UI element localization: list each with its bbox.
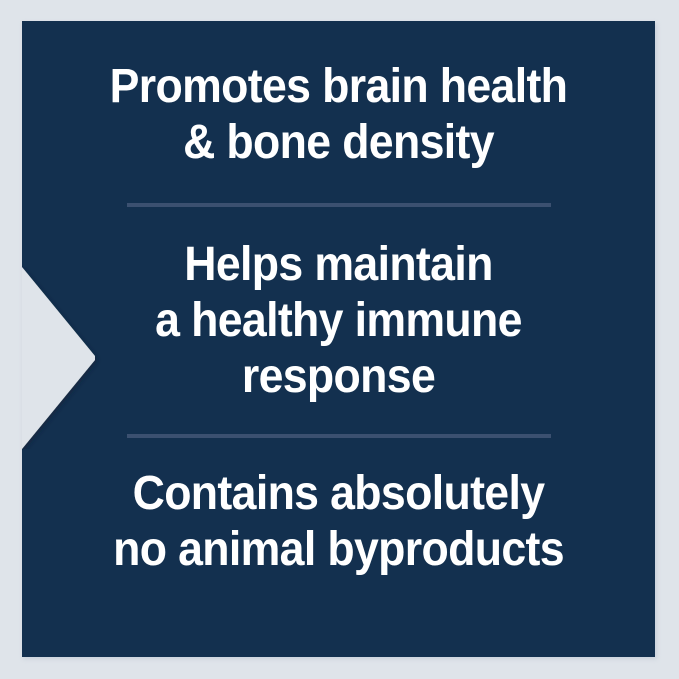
benefit-no-byproducts: Contains absolutely no animal byproducts bbox=[44, 466, 633, 577]
benefit-brain-bone: Promotes brain health & bone density bbox=[44, 59, 633, 170]
product-benefits-graphic: Promotes brain health & bone density Hel… bbox=[0, 0, 679, 679]
benefit-immune: Helps maintain a healthy immune response bbox=[44, 237, 633, 404]
benefits-content: Promotes brain health & bone density Hel… bbox=[22, 21, 655, 657]
divider-2 bbox=[127, 434, 551, 438]
divider-1 bbox=[127, 203, 551, 207]
